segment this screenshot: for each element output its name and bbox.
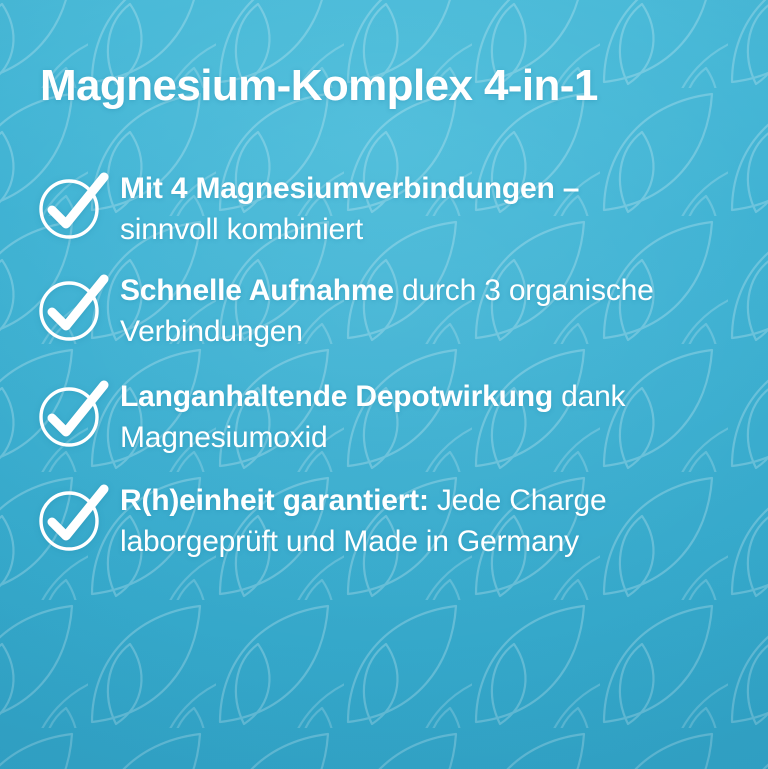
check-circle-icon — [36, 172, 120, 242]
check-circle-icon — [36, 380, 120, 450]
page-title: Magnesium-Komplex 4-in-1 — [40, 60, 598, 112]
list-item-text: Schnelle Aufnahme durch 3 organische Ver… — [120, 266, 754, 352]
list-item: R(h)einheit garantiert: Jede Charge labo… — [36, 476, 754, 562]
list-item: Schnelle Aufnahme durch 3 organische Ver… — [36, 266, 754, 352]
product-claims-poster: Magnesium-Komplex 4-in-1 Mit 4 Magnesium… — [0, 0, 768, 769]
list-item-lead: Schnelle Aufnahme — [120, 274, 394, 307]
list-item: Langanhaltende Depotwirkung dank Magnesi… — [36, 372, 754, 458]
list-item: Mit 4 Magnesiumverbindungen – sinnvoll k… — [36, 164, 754, 250]
list-item-lead: Langanhaltende Depotwirkung — [120, 380, 553, 413]
list-item-lead: R(h)einheit garantiert: — [120, 484, 429, 517]
claims-list: Mit 4 Magnesiumverbindungen – sinnvoll k… — [36, 164, 754, 562]
check-circle-icon — [36, 274, 120, 344]
list-item-text: R(h)einheit garantiert: Jede Charge labo… — [120, 476, 754, 562]
list-item-lead: Mit 4 Magnesiumverbindungen – — [120, 172, 579, 205]
list-item-text: Langanhaltende Depotwirkung dank Magnesi… — [120, 372, 754, 458]
check-circle-icon — [36, 484, 120, 554]
list-item-text: Mit 4 Magnesiumverbindungen – sinnvoll k… — [120, 164, 754, 250]
list-item-rest: sinnvoll kombiniert — [120, 213, 363, 246]
